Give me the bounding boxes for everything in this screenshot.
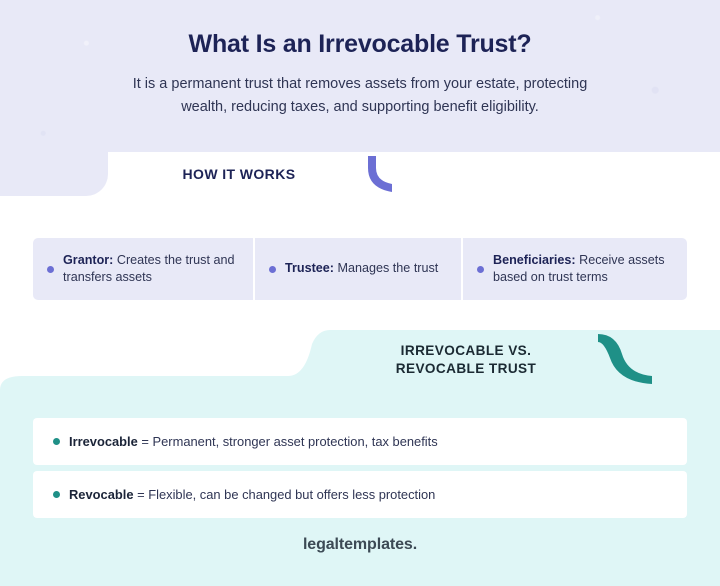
bullet-dot-icon xyxy=(53,491,60,498)
comparison-row-irrevocable: Irrevocable = Permanent, stronger asset … xyxy=(33,418,687,465)
comparison-term: Revocable xyxy=(69,487,134,502)
tab-comparison-label-line1: IRREVOCABLE VS. xyxy=(401,342,532,360)
hero-subtitle: It is a permanent trust that removes ass… xyxy=(110,73,610,120)
bullet-dot-icon xyxy=(53,438,60,445)
bullet-dot-icon xyxy=(269,266,276,273)
tab-how-it-works-label: HOW IT WORKS xyxy=(183,166,296,182)
comparison-row-revocable: Revocable = Flexible, can be changed but… xyxy=(33,471,687,518)
role-card-trustee: Trustee: Manages the trust xyxy=(255,238,463,300)
comparison-description: Permanent, stronger asset protection, ta… xyxy=(153,434,438,449)
role-card-beneficiaries: Beneficiaries: Receive assets based on t… xyxy=(463,238,687,300)
role-cards-group: Grantor: Creates the trust and transfers… xyxy=(33,238,687,300)
tab-comparison-label-line2: REVOCABLE TRUST xyxy=(396,360,536,378)
brand-wordmark: legaltemplates. xyxy=(303,536,417,553)
comparison-rows-group: Irrevocable = Permanent, stronger asset … xyxy=(33,418,687,518)
comparison-row-text: Revocable = Flexible, can be changed but… xyxy=(69,487,435,502)
role-card-text: Trustee: Manages the trust xyxy=(285,260,438,277)
comparison-separator: = xyxy=(137,487,145,502)
bullet-dot-icon xyxy=(47,266,54,273)
role-term: Beneficiaries: xyxy=(493,253,576,267)
comparison-row-text: Irrevocable = Permanent, stronger asset … xyxy=(69,434,438,449)
role-card-text: Beneficiaries: Receive assets based on t… xyxy=(493,252,673,287)
comparison-description: Flexible, can be changed but offers less… xyxy=(148,487,435,502)
tab-how-it-works: HOW IT WORKS xyxy=(108,152,370,196)
tab-irrevocable-vs-revocable: IRREVOCABLE VS. REVOCABLE TRUST xyxy=(330,334,602,386)
page-title: What Is an Irrevocable Trust? xyxy=(0,30,720,59)
hero-notch-shape xyxy=(0,152,108,196)
hero-content: What Is an Irrevocable Trust? It is a pe… xyxy=(0,0,720,120)
role-card-text: Grantor: Creates the trust and transfers… xyxy=(63,252,239,287)
footer: legaltemplates. xyxy=(0,536,720,554)
role-card-grantor: Grantor: Creates the trust and transfers… xyxy=(33,238,255,300)
comparison-separator: = xyxy=(141,434,149,449)
comparison-term: Irrevocable xyxy=(69,434,138,449)
bullet-dot-icon xyxy=(477,266,484,273)
infographic-canvas: What Is an Irrevocable Trust? It is a pe… xyxy=(0,0,720,586)
role-description: Manages the trust xyxy=(338,261,439,275)
role-term: Grantor: xyxy=(63,253,113,267)
role-term: Trustee: xyxy=(285,261,334,275)
